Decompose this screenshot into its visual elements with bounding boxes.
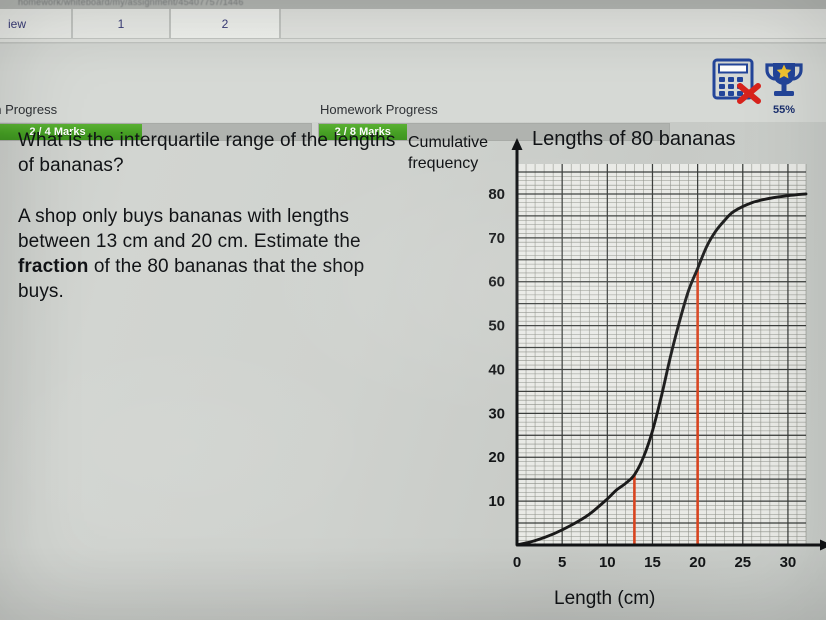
y-tick-70: 70 — [488, 230, 505, 247]
calculator-not-allowed-icon[interactable] — [712, 58, 766, 104]
question-part-2-pre: A shop only buys bananas with lengths be… — [18, 206, 361, 252]
y-tick-80: 80 — [488, 186, 505, 203]
y-tick-10: 10 — [488, 493, 505, 510]
y-tick-30: 30 — [488, 405, 505, 422]
tab-1[interactable]: 1 — [72, 9, 170, 39]
y-tick-60: 60 — [488, 274, 505, 291]
x-tick-30: 30 — [780, 554, 797, 571]
tab-overflow[interactable] — [280, 9, 826, 39]
question-progress-label: stion Progress — [0, 102, 57, 117]
question-part-2-emphasis: fraction — [18, 256, 88, 277]
x-tick-25: 25 — [734, 554, 751, 571]
y-tick-50: 50 — [488, 318, 505, 335]
x-tick-5: 5 — [558, 554, 566, 571]
tab-2[interactable]: 2 — [170, 9, 280, 39]
url-text: homework/whiteboard/my/assignment/454077… — [18, 0, 244, 7]
y-tick-20: 20 — [488, 449, 505, 466]
x-tick-10: 10 — [599, 554, 616, 571]
x-tick-15: 15 — [644, 554, 661, 571]
cumulative-frequency-graph: Lengths of 80 bananas Cumulative frequen… — [406, 126, 826, 620]
screen: homework/whiteboard/my/assignment/454077… — [0, 0, 826, 620]
plot-svg: 1020304050607080051015202530 — [406, 126, 826, 596]
y-tick-40: 40 — [488, 361, 505, 378]
question-part-2: A shop only buys bananas with lengths be… — [18, 204, 408, 304]
tab-review-label: iew — [8, 17, 26, 31]
question-area: What is the interquartile range of the l… — [18, 128, 408, 304]
progress-band: stion Progress 2 / 4 Marks Homework Prog… — [0, 44, 826, 122]
trophy-percent: 55% — [762, 104, 806, 116]
x-tick-20: 20 — [689, 554, 706, 571]
homework-progress-label: Homework Progress — [320, 102, 438, 117]
trophy-icon[interactable] — [762, 58, 806, 102]
tab-review[interactable]: iew — [0, 9, 72, 39]
question-part-1: What is the interquartile range of the l… — [18, 128, 408, 178]
browser-url-bar[interactable]: homework/whiteboard/my/assignment/454077… — [0, 0, 826, 9]
tab-2-label: 2 — [222, 17, 229, 31]
browser-tab-strip: iew 1 2 — [0, 9, 826, 43]
tab-1-label: 1 — [118, 17, 125, 31]
x-tick-0: 0 — [513, 554, 521, 571]
